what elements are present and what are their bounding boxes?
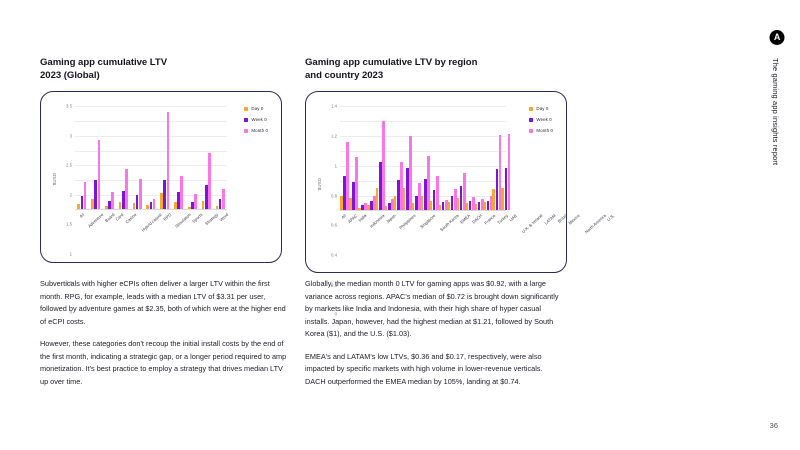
x-axis-label: DACH <box>471 213 483 225</box>
x-axis-label: Indonesia <box>369 213 386 229</box>
bar-group <box>213 106 227 209</box>
bar-group <box>358 106 367 210</box>
right-chart-legend: Day 0Week 0Month 0 <box>529 106 553 133</box>
x-axis-label: Singapore <box>419 213 437 229</box>
x-axis-label: UAE <box>508 213 518 222</box>
bar <box>222 189 225 209</box>
bar-group <box>199 106 213 209</box>
x-axis-label: All <box>340 213 347 220</box>
x-axis-label: Turkey <box>496 213 509 225</box>
legend-label: Day 0 <box>251 106 263 111</box>
bar <box>98 140 101 209</box>
legend-item: Day 0 <box>244 106 268 111</box>
bar-group <box>501 106 510 210</box>
bar-group <box>75 106 89 209</box>
left-chart-title: Gaming app cumulative LTV 2023 (Global) <box>40 56 282 82</box>
slide-page: A The gaming app insights report 36 Gami… <box>0 0 800 450</box>
y-axis-tick: 0.4 <box>331 253 337 258</box>
bar-group <box>340 106 349 210</box>
legend-label: Week 0 <box>251 117 266 122</box>
right-column: Gaming app cumulative LTV by region and … <box>305 56 567 273</box>
left-chart-legend: Day 0Week 0Month 0 <box>244 106 268 133</box>
bar-group <box>116 106 130 209</box>
y-axis-tick: 1.2 <box>331 134 337 139</box>
bar-group <box>457 106 466 210</box>
left-paragraph-1: Subverticals with higher eCPIs often del… <box>40 278 288 328</box>
x-axis-label: Japan <box>385 213 397 224</box>
bar-group <box>403 106 412 210</box>
x-axis-label: Sports <box>191 212 203 224</box>
y-axis-tick: 0.8 <box>331 193 337 198</box>
x-axis-label: France <box>483 213 496 225</box>
y-axis-tick: 1.5 <box>66 222 72 227</box>
region-ltv-bar-chart: $USD 00.20.40.60.811.21.4 AllAPACIndiaIn… <box>314 102 558 266</box>
right-paragraph-2: EMEA's and LATAM's low LTVs, $0.36 and $… <box>305 351 563 389</box>
legend-label: Week 0 <box>536 117 551 122</box>
right-chart-xlabels: AllAPACIndiaIndonesiaJapanPhilippinesSin… <box>340 213 506 218</box>
x-axis-label: Mexico <box>567 213 580 226</box>
x-axis-label: North America <box>584 213 607 234</box>
bar-group <box>349 106 358 210</box>
bar-group <box>430 106 439 210</box>
legend-item: Day 0 <box>529 106 553 111</box>
bar <box>84 182 87 209</box>
side-rail: A The gaming app insights report <box>754 0 800 450</box>
x-axis-label: India <box>357 213 367 223</box>
left-column: Gaming app cumulative LTV 2023 (Global) … <box>40 56 282 263</box>
bar <box>180 176 183 210</box>
right-chart-plot: 00.20.40.60.811.21.4 <box>340 106 506 210</box>
y-axis-tick: 1 <box>335 163 337 168</box>
bar-group <box>492 106 501 210</box>
bar-group <box>475 106 484 210</box>
gridline: 0 <box>340 210 506 211</box>
y-axis-tick: 1 <box>70 251 72 256</box>
x-axis-label: EMEA <box>459 213 471 225</box>
bar-group <box>412 106 421 210</box>
bar-group <box>186 106 200 209</box>
global-ltv-bar-chart: $USD 00.511.522.533.5 AllAdventureBoardC… <box>49 102 273 256</box>
page-number: 36 <box>770 421 778 430</box>
x-axis-label: Adventure <box>87 212 105 228</box>
bar-group <box>172 106 186 209</box>
legend-item: Week 0 <box>529 117 553 122</box>
bar-group <box>385 106 394 210</box>
legend-swatch-icon <box>529 129 533 133</box>
logo-letter: A <box>774 33 780 42</box>
x-axis-label: Casino <box>125 212 138 224</box>
legend-label: Month 0 <box>251 128 268 133</box>
left-paragraph-2: However, these categories don't recoup t… <box>40 338 288 388</box>
legend-item: Week 0 <box>244 117 268 122</box>
x-axis-label: Simulation <box>174 212 192 229</box>
x-axis-label: U.S. <box>606 213 615 222</box>
appsflyer-logo-icon: A <box>770 30 785 45</box>
bar <box>153 199 156 210</box>
y-axis-tick: 2.5 <box>66 163 72 168</box>
bar-group <box>103 106 117 209</box>
x-axis-label: Hybrid casual <box>141 212 163 233</box>
bar-group <box>484 106 493 210</box>
x-axis-label: Word <box>219 212 230 222</box>
report-title-vertical: The gaming app insights report <box>771 58 780 165</box>
bar-group <box>89 106 103 209</box>
legend-item: Month 0 <box>244 128 268 133</box>
right-paragraph-1: Globally, the median month 0 LTV for gam… <box>305 278 563 341</box>
bar <box>508 134 511 211</box>
bar-groups <box>75 106 227 209</box>
bar-group <box>130 106 144 209</box>
bar <box>208 153 211 209</box>
left-chart-xlabels: AllAdventureBoardCardCasinoHybrid casual… <box>75 212 227 217</box>
y-axis-tick: 1.4 <box>331 104 337 109</box>
x-axis-label: LATAM <box>544 213 557 226</box>
x-axis-label: RPG <box>162 212 172 222</box>
x-axis-label: Card <box>115 212 125 222</box>
right-chart-ylabel: $USD <box>317 178 322 191</box>
left-body-copy: Subverticals with higher eCPIs often del… <box>40 278 288 388</box>
right-body-copy: Globally, the median month 0 LTV for gam… <box>305 278 563 388</box>
bar-group <box>448 106 457 210</box>
left-chart-ylabel: $USD <box>52 173 57 186</box>
bar <box>111 192 114 209</box>
legend-swatch-icon <box>244 118 248 122</box>
x-axis-label: All <box>76 212 85 221</box>
legend-swatch-icon <box>244 107 248 111</box>
legend-label: Month 0 <box>536 128 553 133</box>
x-axis-label: U.K. & Ireland <box>521 213 544 234</box>
x-axis-label: Philippines <box>399 213 417 230</box>
y-axis-tick: 0.6 <box>331 223 337 228</box>
legend-label: Day 0 <box>536 106 548 111</box>
legend-swatch-icon <box>244 129 248 133</box>
left-chart-plot: 00.511.522.533.5 <box>75 106 227 209</box>
y-axis-tick: 3.5 <box>66 104 72 109</box>
bar-group <box>376 106 385 210</box>
bar-group <box>394 106 403 210</box>
x-axis-label: South Korea <box>439 213 460 232</box>
y-axis-tick: 3 <box>70 133 72 138</box>
right-chart-card: $USD 00.20.40.60.811.21.4 AllAPACIndiaIn… <box>305 91 567 273</box>
bar <box>194 194 197 210</box>
legend-item: Month 0 <box>529 128 553 133</box>
bar <box>139 179 142 209</box>
bar-group <box>367 106 376 210</box>
left-chart-card: $USD 00.511.522.533.5 AllAdventureBoardC… <box>40 91 282 263</box>
y-axis-tick: 2 <box>70 192 72 197</box>
bar-group <box>158 106 172 209</box>
bar-group <box>421 106 430 210</box>
x-axis-label: Strategy <box>204 212 219 226</box>
bar-group <box>439 106 448 210</box>
bar-group <box>144 106 158 209</box>
legend-swatch-icon <box>529 107 533 111</box>
bar-group <box>466 106 475 210</box>
bar <box>125 169 128 209</box>
gridline: 0 <box>75 209 227 210</box>
bar-groups <box>340 106 506 210</box>
right-chart-title: Gaming app cumulative LTV by region and … <box>305 56 567 82</box>
bar <box>167 112 170 209</box>
legend-swatch-icon <box>529 118 533 122</box>
x-axis-label: Brazil <box>556 213 567 224</box>
